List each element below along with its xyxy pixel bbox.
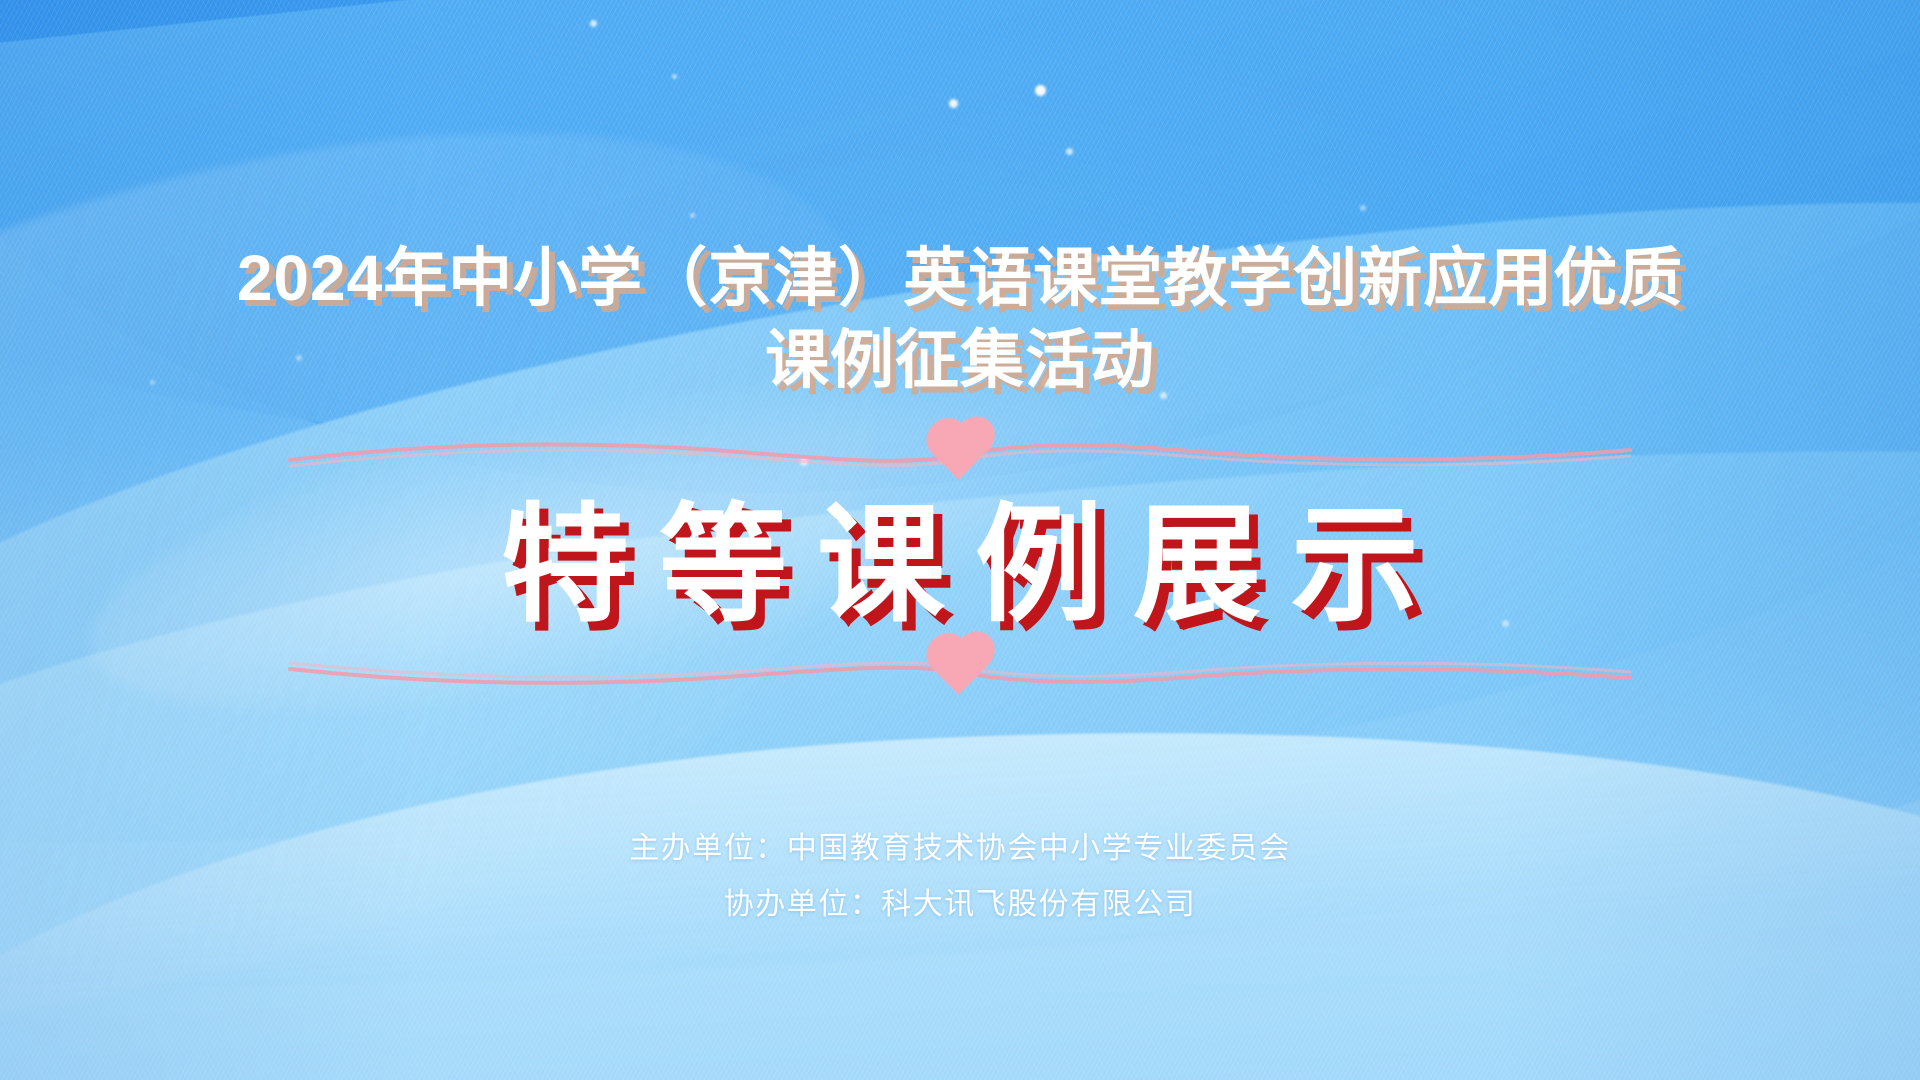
- main-heading: 特等课例展示: [0, 498, 1920, 634]
- ornamental-divider-top: [290, 424, 1630, 488]
- organizer-cohost: 协办单位：科大讯飞股份有限公司: [0, 877, 1920, 933]
- poster-content: 2024年中小学（京津）英语课堂教学创新应用优质 课例征集活动 特等课例展示 主…: [0, 0, 1920, 1080]
- event-title-line-1: 2024年中小学（京津）英语课堂教学创新应用优质: [0, 238, 1920, 320]
- poster-slide: 2024年中小学（京津）英语课堂教学创新应用优质 课例征集活动 特等课例展示 主…: [0, 0, 1920, 1080]
- event-title-line-2: 课例征集活动: [0, 320, 1920, 402]
- ornamental-divider-bottom: [290, 639, 1630, 703]
- organizer-host: 主办单位：中国教育技术协会中小学专业委员会: [0, 821, 1920, 877]
- organizer-block: 主办单位：中国教育技术协会中小学专业委员会 协办单位：科大讯飞股份有限公司: [0, 821, 1920, 932]
